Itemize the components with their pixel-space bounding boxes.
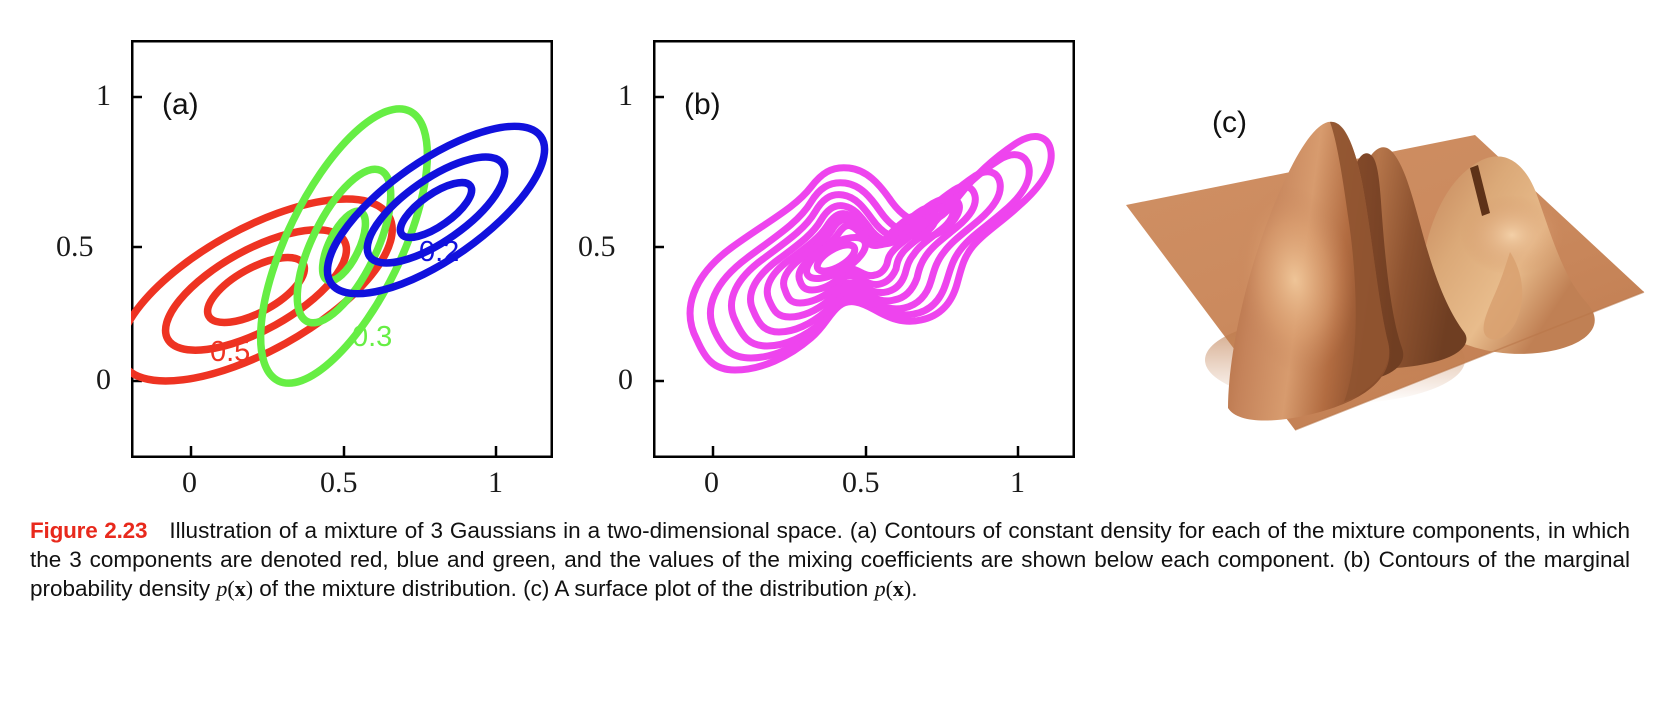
mixing-label-blue: 0.2: [419, 236, 459, 269]
figure-number: Figure 2.23: [30, 518, 147, 543]
panel-a-xtick-1: 1: [488, 466, 503, 500]
mixing-label-green: 0.3: [352, 321, 392, 354]
panel-b-xtick-1: 1: [1010, 466, 1025, 500]
caption-text-part-3: .: [911, 576, 917, 601]
panel-a-xtick-0.5: 0.5: [320, 466, 358, 500]
caption-math-p1: p: [216, 576, 227, 601]
caption-math-x1: x: [235, 576, 246, 601]
panel-b-xtick-0: 0: [704, 466, 719, 500]
panel-c: (c): [1120, 30, 1650, 450]
figure-root: (a) 0.5 0.3 0.2 1 0.5 0 0 0.5 1: [0, 0, 1664, 708]
panel-b-xtick-0.5: 0.5: [842, 466, 880, 500]
caption-math-p2: p: [875, 576, 886, 601]
panel-a-ytick-0.5: 0.5: [56, 230, 94, 264]
mixing-label-red: 0.5: [210, 336, 250, 369]
panel-a-ytick-1: 1: [96, 79, 111, 113]
caption-math-x2: x: [893, 576, 904, 601]
panel-a-tag: (a): [162, 88, 199, 122]
caption-math-paren3: (: [886, 576, 893, 601]
caption-text-part-2: of the mixture distribution. (c) A surfa…: [253, 576, 875, 601]
panel-c-surface-plot: [1120, 30, 1650, 450]
panel-b-ytick-1: 1: [618, 79, 633, 113]
panel-a: (a) 0.5 0.3 0.2: [131, 40, 553, 458]
panel-b-ytick-0: 0: [618, 363, 633, 397]
panel-a-ytick-0: 0: [96, 363, 111, 397]
panel-b: (b): [653, 40, 1075, 458]
figure-caption: Figure 2.23Illustration of a mixture of …: [30, 516, 1630, 603]
panel-b-ytick-0.5: 0.5: [578, 230, 616, 264]
caption-math-paren2: ): [246, 576, 253, 601]
panel-a-xtick-0: 0: [182, 466, 197, 500]
panel-c-tag: (c): [1212, 106, 1247, 140]
caption-math-paren1: (: [227, 576, 234, 601]
panel-b-tag: (b): [684, 88, 721, 122]
